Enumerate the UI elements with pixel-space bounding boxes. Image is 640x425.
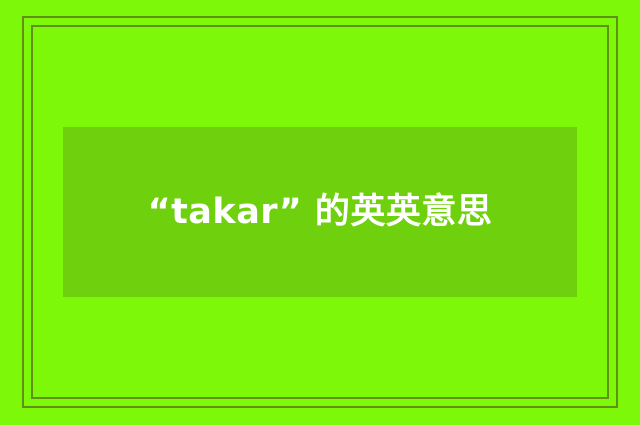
content-plate: “takar” 的英英意思 [63, 127, 577, 297]
banner-canvas: “takar” 的英英意思 [0, 0, 640, 425]
headline-text: “takar” 的英英意思 [109, 185, 531, 239]
